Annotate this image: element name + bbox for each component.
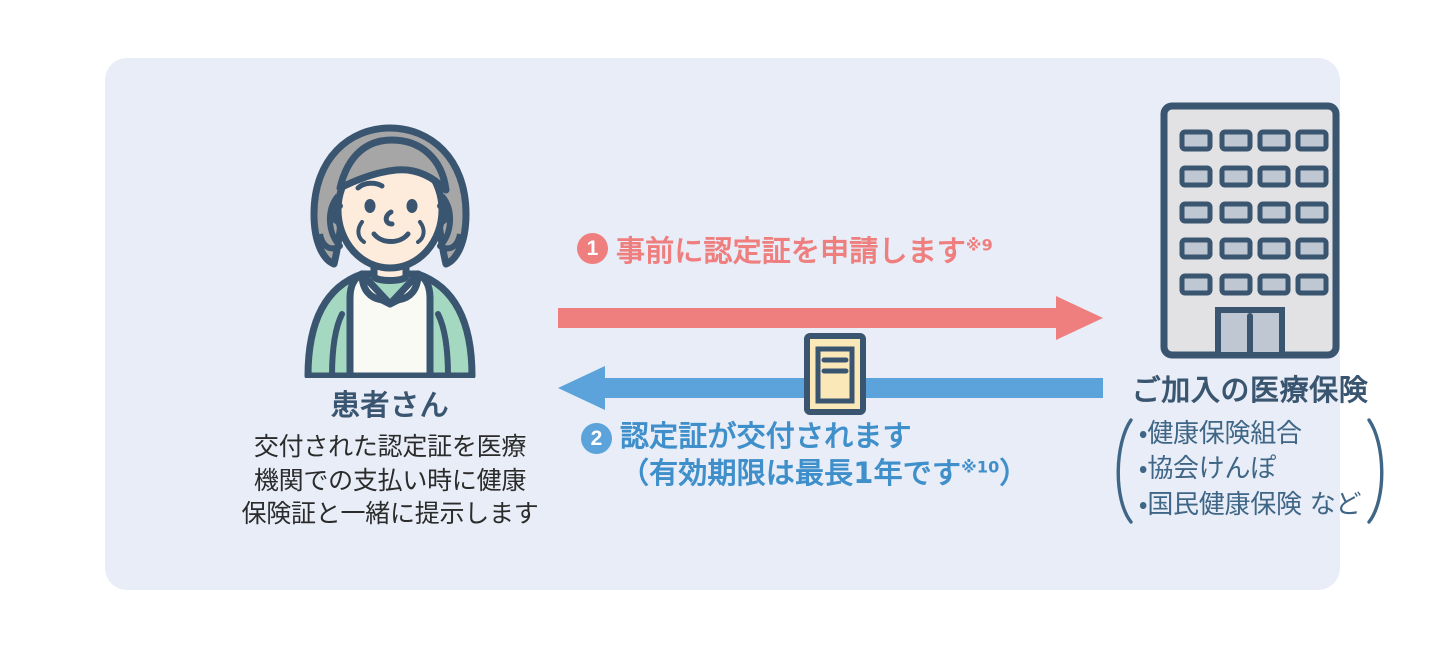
step-2-validity-text: （有効期限は最長1年です <box>620 456 961 490</box>
insurer-types-list: ・健康保険組合 ・協会けんぽ ・国民健康保険 など <box>1139 417 1362 523</box>
patient-section: 患者さん 交付された認定証を医療 機関での支払い時に健康 保険証と一緒に提示しま… <box>225 118 555 531</box>
patient-description-line: 交付された認定証を医療 <box>225 430 555 464</box>
patient-title: 患者さん <box>225 382 555 424</box>
right-brace-icon <box>1365 417 1395 525</box>
insurer-list-item: ・健康保険組合 <box>1139 417 1362 452</box>
insurer-section: ご加入の医療保険 ・健康保険組合 ・協会けんぽ ・国民健康保険 など <box>1065 98 1435 523</box>
step-1-main-text: 事前に認定証を申請します <box>616 234 966 268</box>
step-2-paren-close: ） <box>999 456 1028 490</box>
elderly-woman-illustration <box>270 118 510 378</box>
step-2-text-line1: 認定証が交付されます <box>620 418 1029 455</box>
insurer-list-group: ・健康保険組合 ・協会けんぽ ・国民健康保険 など <box>1105 417 1396 523</box>
insurer-list-item: ・国民健康保険 など <box>1139 488 1362 523</box>
patient-description-line: 機関での支払い時に健康 <box>225 464 555 498</box>
step-1-label: 1 事前に認定証を申請します※9 <box>577 228 993 270</box>
step-2-text: 認定証が交付されます （有効期限は最長1年です※10） <box>620 418 1029 492</box>
left-brace-icon <box>1105 417 1135 525</box>
flow-diagram-panel: 患者さん 交付された認定証を医療 機関での支払い時に健康 保険証と一緒に提示しま… <box>105 58 1340 590</box>
insurer-list-item: ・協会けんぽ <box>1139 452 1362 487</box>
step-2-footnote: ※10 <box>961 457 999 476</box>
patient-description: 交付された認定証を医療 機関での支払い時に健康 保険証と一緒に提示します <box>225 430 555 531</box>
step-2-label: 2 認定証が交付されます （有効期限は最長1年です※10） <box>581 418 1029 492</box>
certificate-document-icon <box>803 332 867 416</box>
flow-arrows-section: 1 事前に認定証を申請します※9 2 認定証が交付されます （有効期限は最長1年… <box>545 118 1115 538</box>
insurer-title: ご加入の医療保険 <box>1065 367 1435 409</box>
step-2-badge: 2 <box>581 423 612 454</box>
step-1-footnote: ※9 <box>966 235 993 254</box>
patient-description-line: 保険証と一緒に提示します <box>225 497 555 531</box>
step-2-text-line2: （有効期限は最長1年です※10） <box>620 455 1029 492</box>
office-building-illustration <box>1150 98 1350 363</box>
step-1-text: 事前に認定証を申請します※9 <box>616 228 993 270</box>
step-1-badge: 1 <box>577 233 608 264</box>
